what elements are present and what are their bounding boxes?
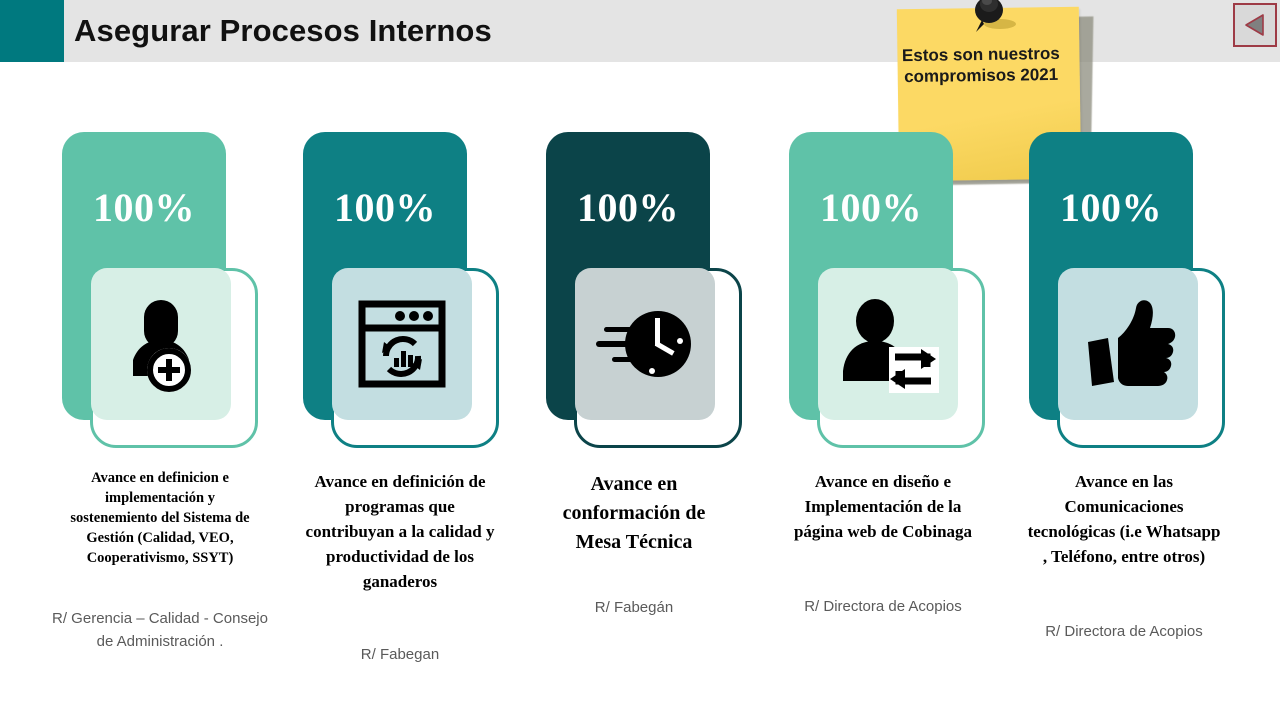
card-caption-4: Avance en diseño e Implementación de la … [782, 469, 984, 544]
sticky-note-text: Estos son nuestros compromisos 2021 [902, 43, 1061, 87]
left-triangle-icon [1242, 12, 1268, 38]
card-percent-value: 100% [1029, 184, 1193, 231]
thumbs-up-icon [1058, 268, 1198, 420]
user-sync-icon [818, 268, 958, 420]
page-title: Asegurar Procesos Internos [74, 13, 492, 49]
card-responsible-2: R/ Fabegan [300, 644, 500, 666]
card-responsible-5: R/ Directora de Acopios [1020, 621, 1228, 643]
card-responsible-4: R/ Directora de Acopios [782, 596, 984, 618]
push-pin-icon [960, 0, 1020, 42]
card-caption-1: Avance en definicion e implementación y … [62, 468, 258, 568]
card-caption-3: Avance en conformación de Mesa Técnica [546, 470, 722, 557]
card-caption-5: Avance en las Comunicaciones tecnológica… [1026, 469, 1222, 569]
add-user-icon [91, 268, 231, 420]
card-percent-value: 100% [789, 184, 953, 231]
previous-slide-button[interactable] [1233, 3, 1277, 47]
slide-canvas: Asegurar Procesos Internos Estos son nue… [0, 0, 1280, 720]
card-percent-value: 100% [62, 184, 226, 231]
card-responsible-3: R/ Fabegán [546, 597, 722, 619]
card-caption-2: Avance en definición de programas que co… [300, 469, 500, 594]
dashboard-window-icon [332, 268, 472, 420]
card-percent-value: 100% [546, 184, 710, 231]
card-percent-value: 100% [303, 184, 467, 231]
card-responsible-1: R/ Gerencia – Calidad - Consejo de Admin… [52, 607, 268, 653]
fast-clock-icon [575, 268, 715, 420]
header-accent-block [0, 0, 64, 62]
